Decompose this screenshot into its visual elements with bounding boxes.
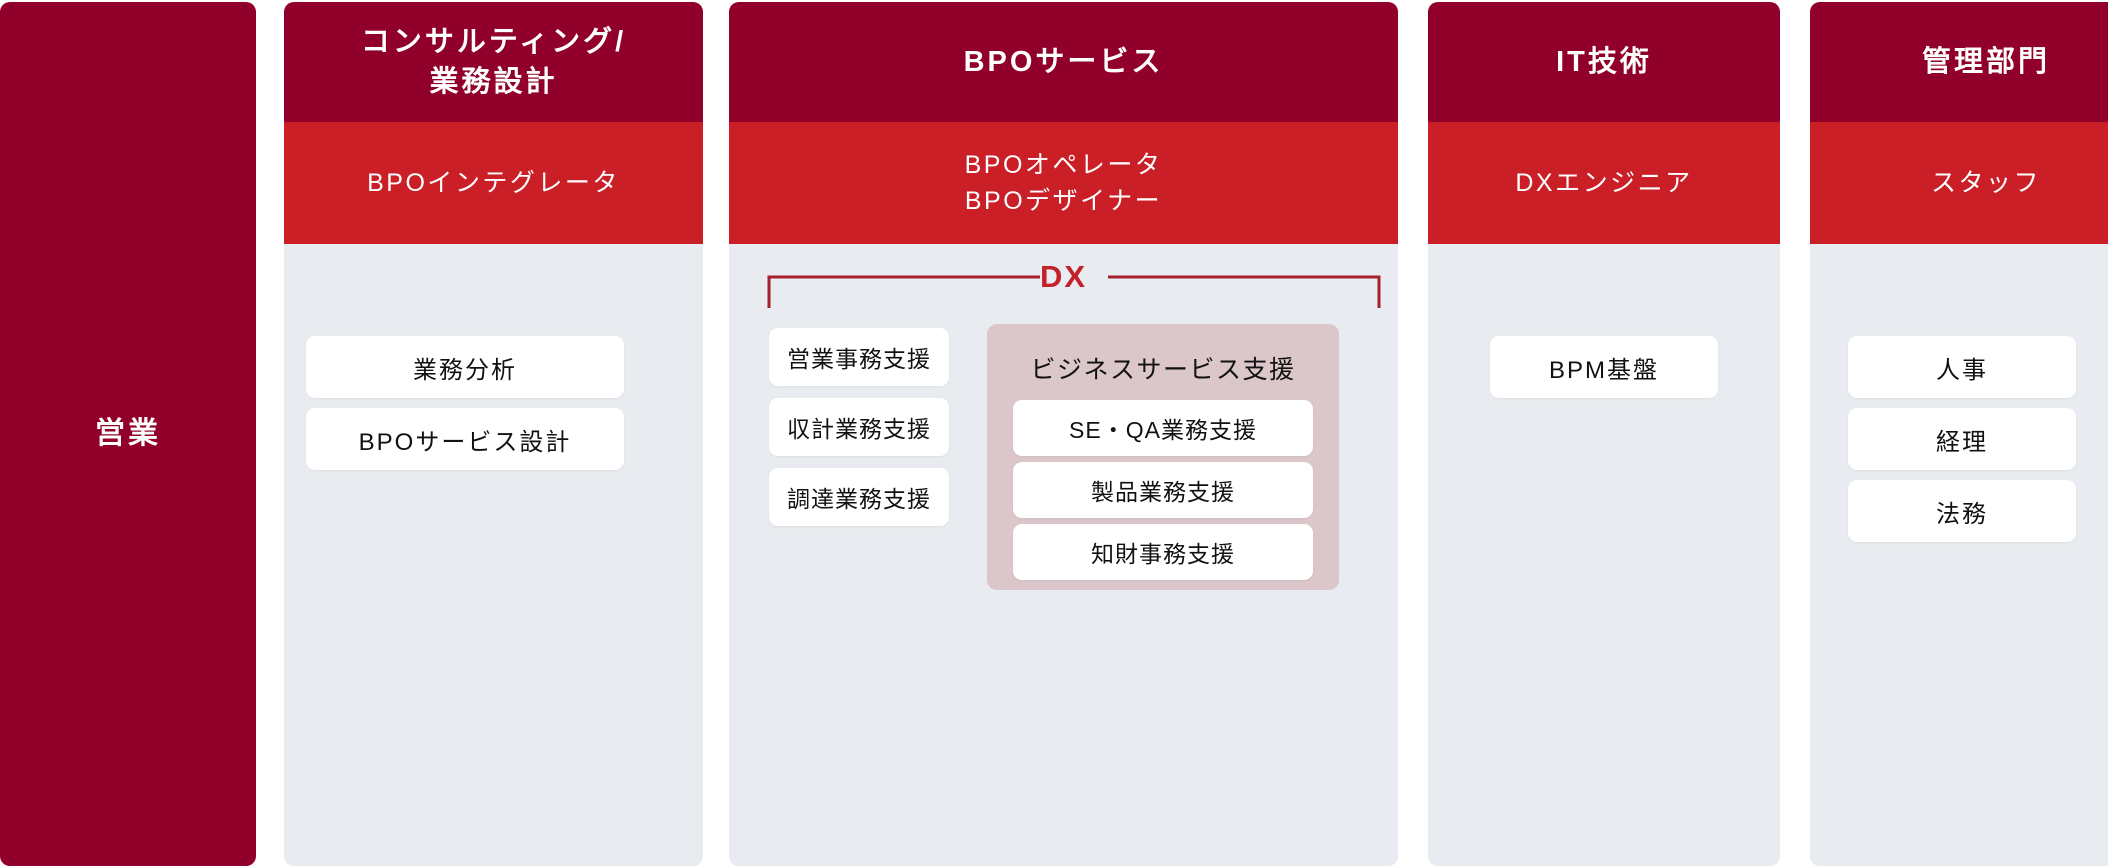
dx-label: DX — [729, 261, 1398, 292]
chip-business-service-1[interactable]: 製品業務支援 — [1013, 462, 1313, 518]
group-panel-business-service: ビジネスサービス支援 SE・QA業務支援 製品業務支援 知財事務支援 — [987, 324, 1339, 590]
column-bpo-service-sub-line2: BPOデザイナー — [965, 183, 1163, 219]
chip-admin-0[interactable]: 人事 — [1848, 336, 2076, 398]
column-sales[interactable]: 営業 — [0, 2, 256, 866]
chip-admin-2[interactable]: 法務 — [1848, 480, 2076, 542]
column-bpo-service-head-line1: BPOサービス — [964, 42, 1164, 82]
column-sales-label: 営業 — [95, 413, 161, 455]
chip-it-tech-0[interactable]: BPM基盤 — [1490, 336, 1718, 398]
chip-business-service-0[interactable]: SE・QA業務支援 — [1013, 400, 1313, 456]
column-consulting-head-line1: コンサルティング/ — [361, 22, 626, 62]
column-admin[interactable]: 管理部門 スタッフ 人事 経理 法務 — [1810, 2, 2108, 866]
column-admin-body: 人事 経理 法務 — [1810, 244, 2108, 866]
column-admin-head-line1: 管理部門 — [1922, 42, 2050, 82]
column-consulting-sub: BPOインテグレータ — [284, 122, 703, 244]
column-it-tech-body: BPM基盤 — [1428, 244, 1780, 866]
column-it-tech-head: IT技術 — [1428, 2, 1780, 122]
column-bpo-service-body: DX 営業事務支援 収計業務支援 調達業務支援 ビジネスサービス支援 SE・QA… — [729, 244, 1398, 866]
chip-admin-1[interactable]: 経理 — [1848, 408, 2076, 470]
column-consulting-head-line2: 業務設計 — [361, 62, 626, 102]
org-chart-diagram: 営業 コンサルティング/ 業務設計 BPOインテグレータ 業務分析 BPOサービ… — [0, 0, 2108, 868]
column-admin-sub: スタッフ — [1810, 122, 2108, 244]
column-bpo-service-sub-line1: BPOオペレータ — [965, 147, 1163, 183]
column-bpo-service-sub: BPOオペレータ BPOデザイナー — [729, 122, 1398, 244]
chip-business-service-2[interactable]: 知財事務支援 — [1013, 524, 1313, 580]
chip-consulting-0[interactable]: 業務分析 — [306, 336, 624, 398]
chip-bpo-service-1[interactable]: 収計業務支援 — [769, 398, 949, 456]
column-bpo-service-head: BPOサービス — [729, 2, 1398, 122]
column-consulting-sub-line1: BPOインテグレータ — [367, 165, 620, 201]
column-admin-head: 管理部門 — [1810, 2, 2108, 122]
chip-consulting-1[interactable]: BPOサービス設計 — [306, 408, 624, 470]
column-it-tech-head-line1: IT技術 — [1556, 42, 1652, 82]
column-admin-sub-line1: スタッフ — [1931, 165, 2041, 201]
column-bpo-service[interactable]: BPOサービス BPOオペレータ BPOデザイナー DX 営業事務支援 収計業務… — [729, 2, 1398, 866]
chip-bpo-service-0[interactable]: 営業事務支援 — [769, 328, 949, 386]
column-it-tech-sub-line1: DXエンジニア — [1515, 165, 1692, 201]
column-consulting-body: 業務分析 BPOサービス設計 — [284, 244, 703, 866]
chip-bpo-service-2[interactable]: 調達業務支援 — [769, 468, 949, 526]
column-it-tech[interactable]: IT技術 DXエンジニア BPM基盤 — [1428, 2, 1780, 866]
column-consulting-head: コンサルティング/ 業務設計 — [284, 2, 703, 122]
group-panel-title: ビジネスサービス支援 — [987, 350, 1339, 386]
column-consulting[interactable]: コンサルティング/ 業務設計 BPOインテグレータ 業務分析 BPOサービス設計 — [284, 2, 703, 866]
column-it-tech-sub: DXエンジニア — [1428, 122, 1780, 244]
